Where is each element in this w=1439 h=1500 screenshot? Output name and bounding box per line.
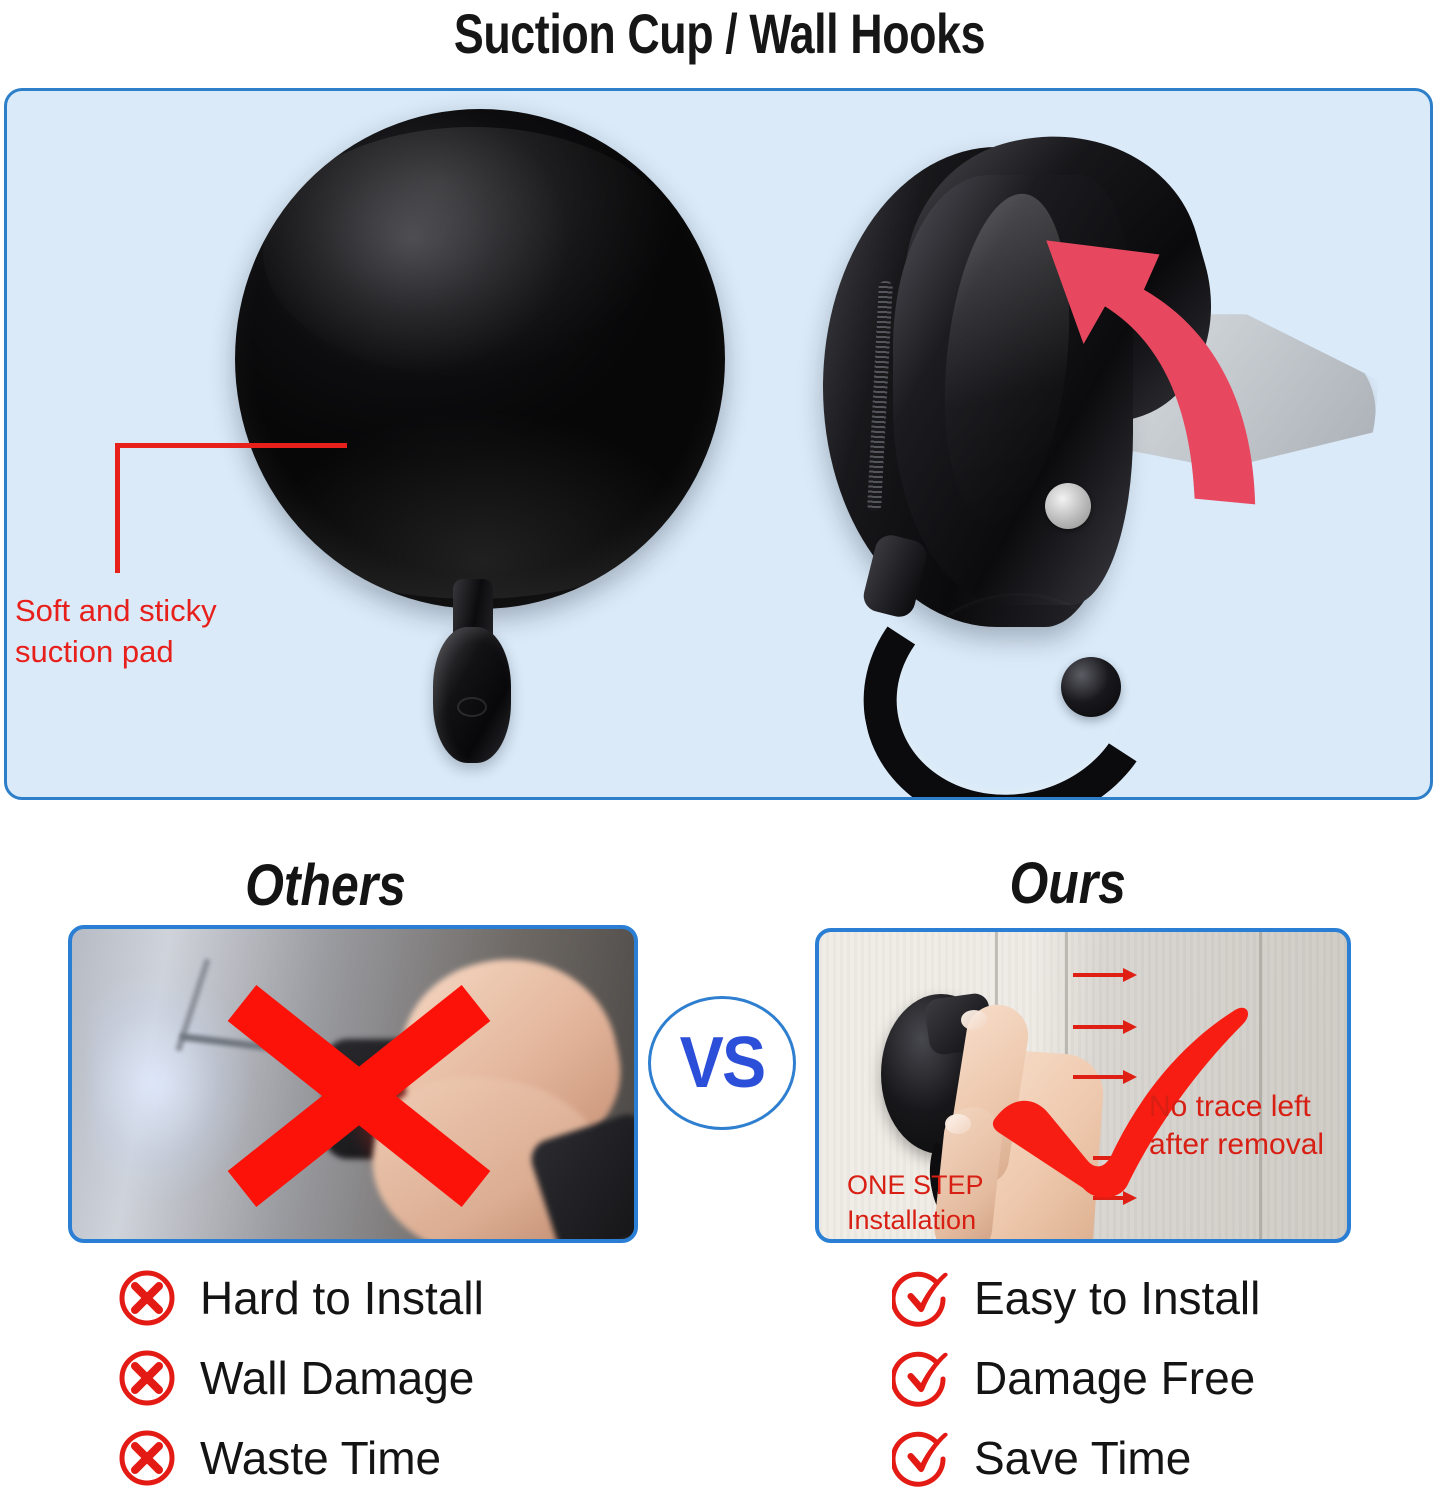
- bullet-label: Damage Free: [974, 1351, 1255, 1405]
- list-item: Easy to Install: [892, 1258, 1260, 1338]
- circle-check-icon: [892, 1349, 950, 1407]
- one-step-line-2: Installation: [847, 1203, 984, 1238]
- one-step-line-1: ONE STEP: [847, 1168, 984, 1203]
- vs-badge: VS: [648, 996, 796, 1130]
- bullet-label: Easy to Install: [974, 1271, 1260, 1325]
- callout-leader-line: [107, 443, 347, 603]
- leader-horizontal: [115, 443, 347, 448]
- label-no-trace-left: No trace left after removal: [1149, 1088, 1324, 1165]
- side-hook: [855, 561, 1155, 791]
- callout-line-1: Soft and sticky: [15, 591, 285, 632]
- others-photo-panel: [68, 925, 638, 1243]
- bullet-label: Wall Damage: [200, 1351, 474, 1405]
- others-bullet-list: Hard to Install Wall Damage Waste Time: [118, 1258, 484, 1498]
- ours-bullet-list: Easy to Install Damage Free Save Time: [892, 1258, 1260, 1498]
- photo-fingernail-2: [945, 1114, 971, 1134]
- bullet-label: Waste Time: [200, 1431, 441, 1485]
- list-item: Wall Damage: [118, 1338, 484, 1418]
- page-title: Suction Cup / Wall Hooks: [144, 0, 1295, 68]
- circle-x-icon: [118, 1269, 176, 1327]
- callout-line-2: suction pad: [15, 632, 285, 673]
- label-one-step-installation: ONE STEP Installation: [847, 1168, 984, 1237]
- hero-product-panel: Soft and sticky suction pad: [4, 88, 1433, 800]
- circle-x-icon: [118, 1429, 176, 1487]
- circle-x-icon: [118, 1349, 176, 1407]
- press-lever-arrow-icon: [1027, 221, 1257, 521]
- ours-heading: Ours: [1009, 850, 1125, 917]
- callout-soft-sticky-suction-pad: Soft and sticky suction pad: [15, 591, 285, 673]
- no-trace-line-1: No trace left: [1149, 1088, 1324, 1126]
- hook-bowl: [433, 627, 511, 763]
- vs-label: VS: [680, 1027, 765, 1099]
- ours-photo-panel: ONE STEP Installation No trace left afte…: [815, 928, 1351, 1243]
- bullet-label: Hard to Install: [200, 1271, 484, 1325]
- list-item: Damage Free: [892, 1338, 1260, 1418]
- circle-check-icon: [892, 1429, 950, 1487]
- bullet-label: Save Time: [974, 1431, 1191, 1485]
- others-heading: Others: [245, 852, 406, 919]
- list-item: Hard to Install: [118, 1258, 484, 1338]
- hook-ball-tip: [1061, 657, 1121, 717]
- no-trace-line-2: after removal: [1149, 1126, 1324, 1164]
- list-item: Save Time: [892, 1418, 1260, 1498]
- hook-embossed-mark: [457, 697, 487, 717]
- list-item: Waste Time: [118, 1418, 484, 1498]
- photo-fingernail-1: [961, 1010, 987, 1030]
- leader-vertical: [115, 443, 120, 573]
- red-x-overlay-icon: [214, 981, 504, 1211]
- front-hook: [425, 579, 517, 765]
- circle-check-icon: [892, 1269, 950, 1327]
